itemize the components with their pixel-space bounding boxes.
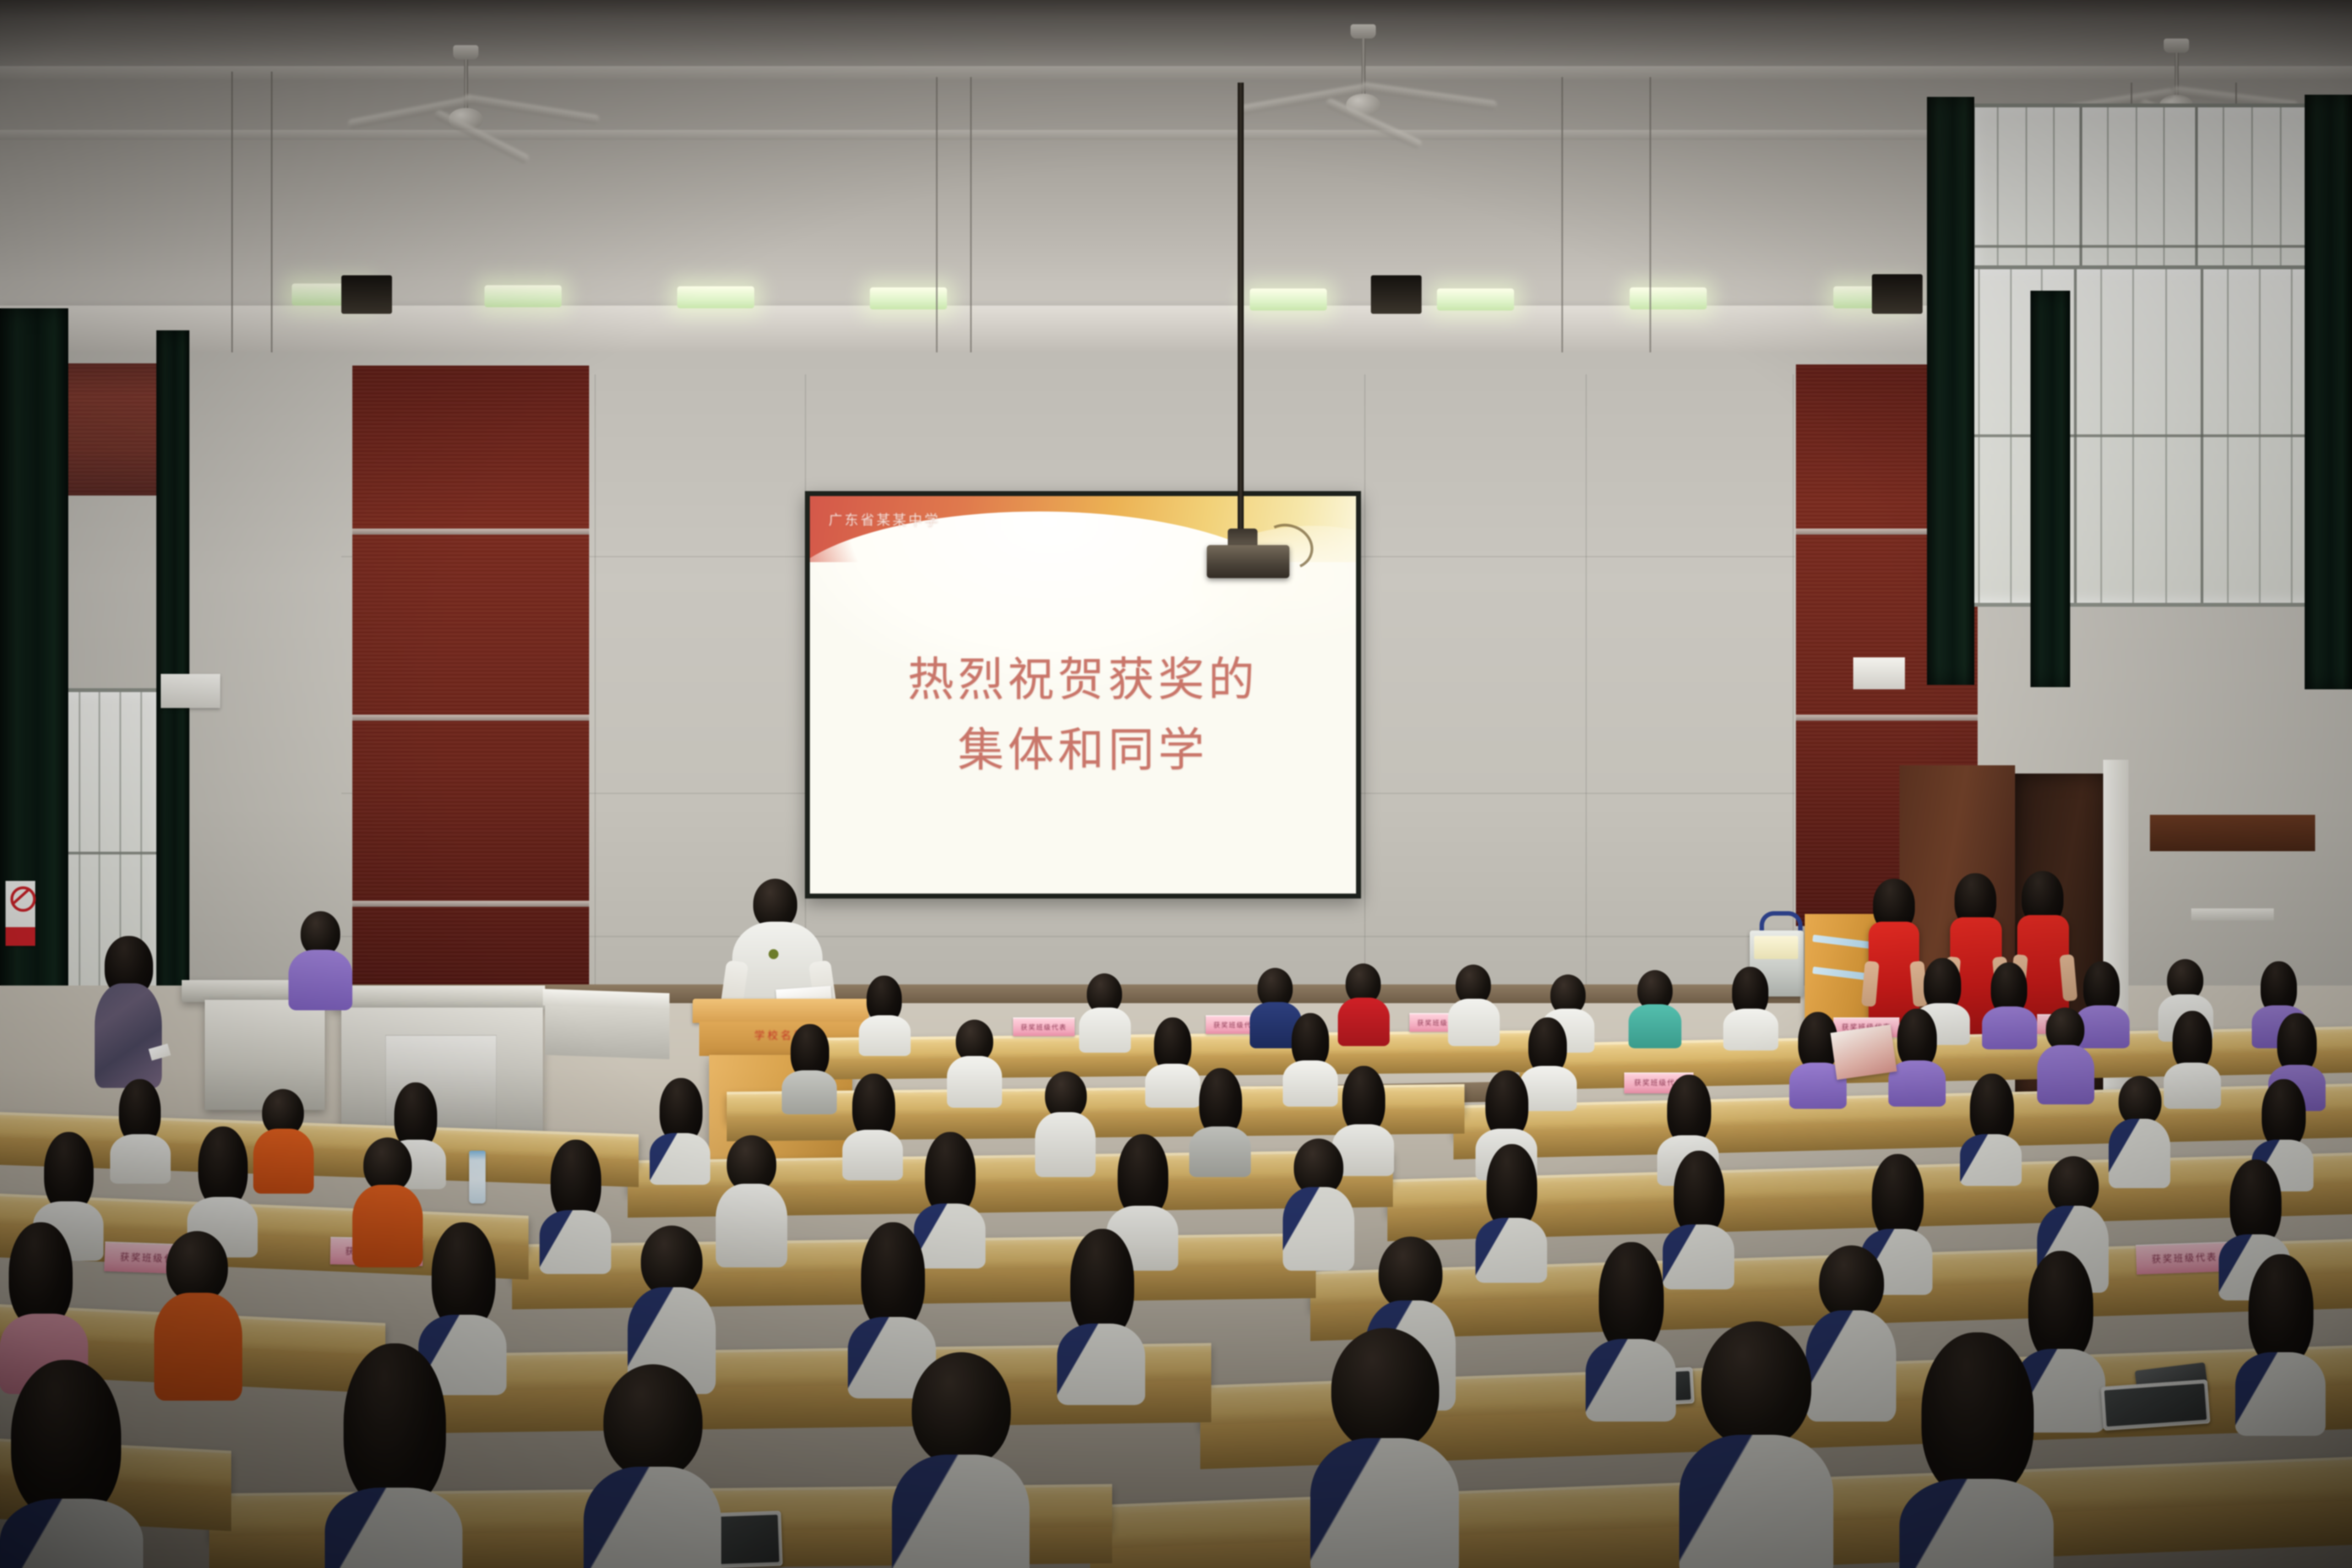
audience-person-foreground bbox=[1679, 1321, 1833, 1568]
wall-grid-line bbox=[1586, 374, 1587, 991]
audience-person bbox=[1189, 1068, 1251, 1173]
audience-person bbox=[1283, 1139, 1354, 1268]
window-lower-right bbox=[1949, 265, 2352, 607]
ceiling-light-panel bbox=[1630, 287, 1707, 309]
ceiling-light-panel bbox=[870, 287, 947, 309]
audience-person bbox=[1888, 1009, 1946, 1100]
audience-person bbox=[1035, 1071, 1096, 1174]
curtain-left-a bbox=[0, 308, 68, 1068]
slide-line-2: 集体和同学 bbox=[810, 715, 1356, 786]
side-shelf bbox=[545, 1005, 669, 1059]
cart-items bbox=[1754, 936, 1798, 959]
audience-person-foreground bbox=[1899, 1332, 2054, 1568]
ceiling-light-panel bbox=[677, 286, 754, 308]
wall-grid-line bbox=[1793, 374, 1794, 991]
audience-person-foreground bbox=[584, 1364, 721, 1568]
wall-grid-line bbox=[595, 374, 596, 991]
audience-person bbox=[2037, 1008, 2094, 1100]
wall-grid-line bbox=[1364, 374, 1365, 991]
smartphone-on-desk[interactable] bbox=[2100, 1379, 2210, 1430]
audience-person bbox=[1283, 1013, 1338, 1100]
audience-person bbox=[1982, 962, 2037, 1045]
wood-trim bbox=[352, 715, 589, 721]
wood-trim bbox=[1796, 715, 1978, 721]
audience-person bbox=[1476, 1144, 1547, 1276]
audience-person bbox=[2109, 1076, 2170, 1185]
certificate bbox=[1831, 1025, 1897, 1080]
slide-body-text: 热烈祝贺获奖的 集体和同学 bbox=[810, 645, 1356, 785]
audience-person bbox=[1629, 970, 1681, 1042]
wall-mounted-unit bbox=[161, 674, 220, 708]
audience-person-foreground bbox=[892, 1352, 1030, 1568]
audience-person bbox=[253, 1089, 314, 1189]
curtain-right-b bbox=[2030, 291, 2070, 687]
audience-person bbox=[2164, 1011, 2221, 1103]
audience-person bbox=[859, 976, 911, 1047]
audience-person bbox=[842, 1074, 903, 1175]
audience-person bbox=[782, 1024, 837, 1107]
podium-top bbox=[693, 999, 869, 1023]
wood-wall-panel-left bbox=[352, 366, 589, 988]
ceiling-speaker-box bbox=[1872, 274, 1923, 314]
curtain-right-c bbox=[2305, 95, 2352, 689]
audience-person bbox=[1057, 1229, 1145, 1397]
wall-trim-right bbox=[2150, 815, 2315, 851]
no-smoking-sign bbox=[6, 881, 35, 946]
audience-person bbox=[110, 1079, 171, 1178]
seated-staff-purple bbox=[286, 911, 352, 999]
audience-person-foreground bbox=[325, 1343, 462, 1568]
projector-mount-pole bbox=[1238, 83, 1244, 556]
audience-person-foreground bbox=[1310, 1328, 1459, 1568]
ceiling-light-panel bbox=[484, 285, 562, 307]
wall-mounted-speaker bbox=[1853, 657, 1905, 689]
slide-header-text: 广东省某某中学 bbox=[829, 509, 940, 529]
audience-person bbox=[716, 1135, 787, 1264]
audience-person bbox=[1586, 1242, 1676, 1415]
ceiling-beam bbox=[0, 66, 2352, 80]
curtain-right-a bbox=[1927, 97, 1974, 685]
audience-person bbox=[1448, 965, 1500, 1041]
wood-trim bbox=[352, 901, 589, 907]
audience-person bbox=[540, 1140, 611, 1266]
audience-person bbox=[1723, 967, 1778, 1044]
audience-person bbox=[2235, 1254, 2326, 1429]
wall-sign-blank bbox=[2191, 908, 2274, 921]
ceiling-speaker-box bbox=[341, 275, 392, 314]
ceiling-light-panel bbox=[1250, 288, 1327, 311]
audience-person bbox=[947, 1020, 1002, 1103]
audience-person bbox=[1338, 963, 1390, 1041]
slide-line-1: 热烈祝贺获奖的 bbox=[810, 645, 1356, 715]
audience-person bbox=[154, 1231, 242, 1398]
lapel-badge bbox=[769, 949, 778, 959]
audience-person bbox=[352, 1137, 423, 1261]
ceiling-speaker-box bbox=[1371, 275, 1422, 314]
auditorium-photo: 广东省某某中学 热烈祝贺获奖的 集体和同学 bbox=[0, 0, 2352, 1568]
audience-person bbox=[1079, 973, 1131, 1046]
audience-person bbox=[1960, 1074, 2022, 1183]
judges-table-top bbox=[330, 986, 545, 1010]
audience-person-foreground bbox=[0, 1360, 143, 1568]
water-bottle bbox=[469, 1151, 486, 1204]
ceiling-light-panel bbox=[1437, 288, 1514, 311]
audience-person bbox=[650, 1078, 710, 1177]
wood-trim bbox=[352, 529, 589, 535]
desk-placard: 获奖班级代表 bbox=[1013, 1017, 1075, 1036]
